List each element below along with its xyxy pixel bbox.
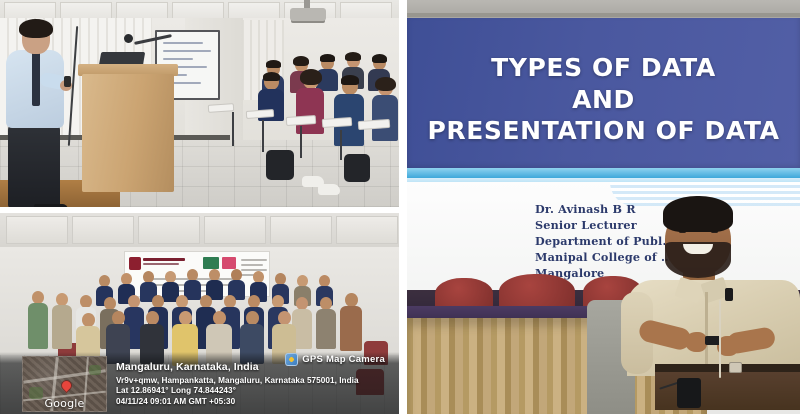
- lecture-hall-photo: [0, 0, 399, 207]
- gps-map-camera-overlay: GPS Map Camera Google Mangaluru, Karnata…: [0, 352, 399, 414]
- presenter-figure: [4, 22, 66, 207]
- slide-title-line-3: PRESENTATION OF DATA: [407, 115, 800, 147]
- photo-collage: GPS Map Camera Google Mangaluru, Karnata…: [0, 0, 800, 414]
- audience-member: [334, 78, 364, 144]
- ceiling-projector-icon: [290, 8, 326, 21]
- backpack: [266, 150, 294, 180]
- mic-transmitter-pack: [677, 378, 701, 408]
- microphone-icon: [124, 34, 133, 43]
- google-watermark: Google: [23, 397, 106, 410]
- ceiling-rail: [407, 13, 800, 17]
- speaker-figure: [621, 196, 800, 414]
- college-logo-icon: [129, 257, 141, 270]
- podium: [82, 64, 174, 194]
- speaker-slide-photo: TYPES OF DATA AND PRESENTATION OF DATA D…: [407, 0, 800, 414]
- map-thumbnail: Google: [22, 356, 107, 412]
- badge-icon: [222, 257, 236, 269]
- backpack: [344, 154, 370, 182]
- gps-timestamp: 04/11/24 09:01 AM GMT +05:30: [116, 397, 359, 408]
- gps-city: Mangaluru, Karnataka, India: [116, 361, 359, 375]
- gps-address: Vr9v+qmw, Hampankatta, Mangaluru, Karnat…: [116, 376, 359, 387]
- red-location-pin-icon: [60, 379, 73, 392]
- slide-title-line-2: AND: [407, 84, 800, 116]
- slide-title: TYPES OF DATA AND PRESENTATION OF DATA: [407, 52, 800, 147]
- slide-accent-stripe: [407, 168, 800, 178]
- gps-coordinates: Lat 12.86941° Long 74.844243°: [116, 386, 359, 397]
- slide-title-banner: TYPES OF DATA AND PRESENTATION OF DATA: [407, 18, 800, 170]
- ceiling: [0, 213, 399, 249]
- slide-title-line-1: TYPES OF DATA: [407, 52, 800, 84]
- gps-info-block: Mangaluru, Karnataka, India Vr9v+qmw, Ha…: [116, 361, 359, 408]
- badge-icon: [203, 257, 219, 269]
- audience-member: [372, 80, 398, 140]
- group-photo: GPS Map Camera Google Mangaluru, Karnata…: [0, 213, 399, 414]
- shoe: [318, 184, 340, 195]
- lapel-microphone-icon: [725, 288, 733, 301]
- presentation-clicker-icon: [64, 76, 71, 87]
